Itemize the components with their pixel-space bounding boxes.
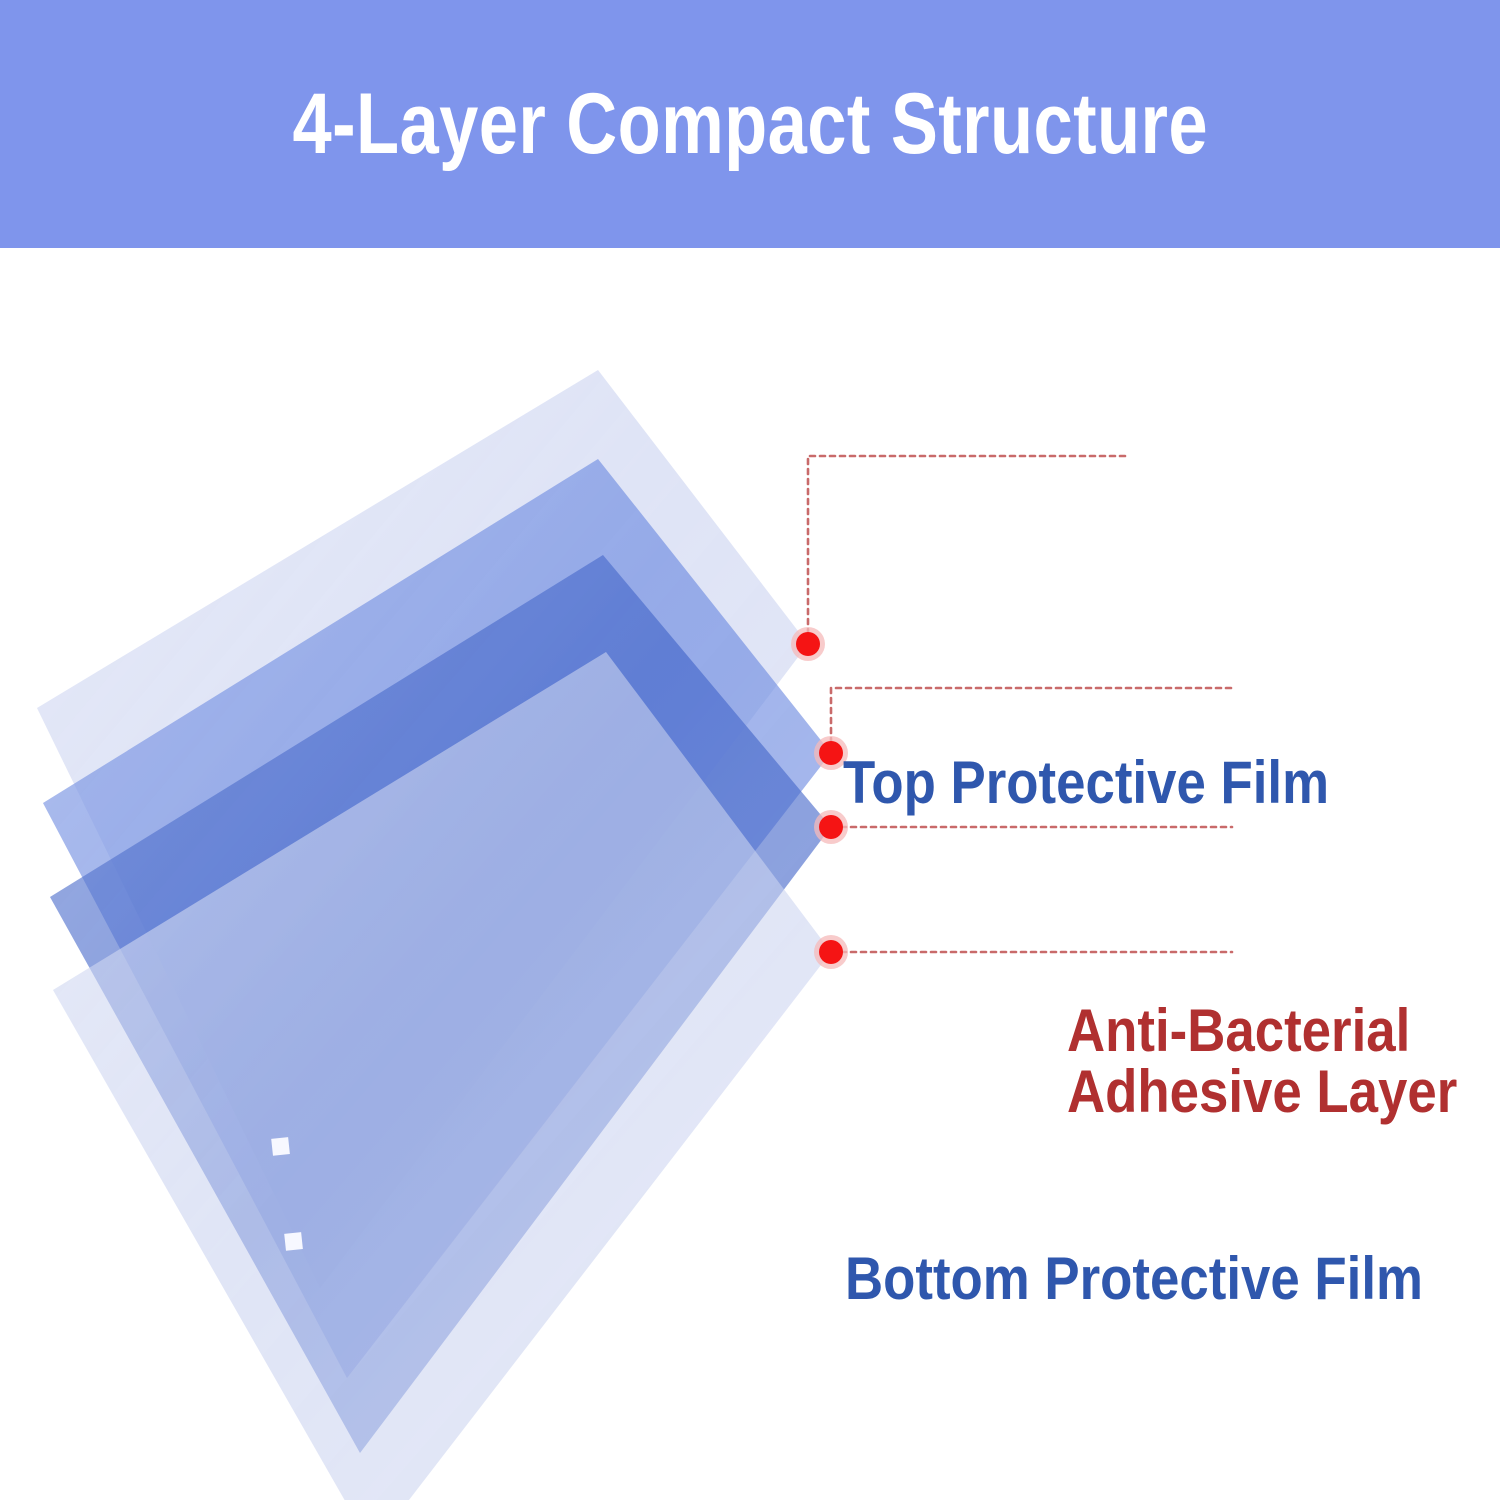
callout-label-top-protective-film: Top Protective Film xyxy=(843,752,1329,813)
infographic-page: 4-Layer Compact Structure xyxy=(0,0,1500,1500)
layer-stack-illustration: Top Protective Film Anti-Bacterial Adhes… xyxy=(0,248,1500,1500)
callout-label-anti-bacterial-adhesive-layer: Anti-Bacterial Adhesive Layer xyxy=(1067,1000,1457,1122)
marker-dot-middle-upper xyxy=(819,741,843,765)
leader-line-middle-upper xyxy=(831,688,1232,753)
marker-dot-bottom xyxy=(819,940,843,964)
marker-dot-middle-lower xyxy=(819,815,843,839)
header-banner: 4-Layer Compact Structure xyxy=(0,0,1500,248)
layer-stack-graphic xyxy=(0,248,1500,1500)
marker-dot-top xyxy=(796,632,820,656)
callout-leaders xyxy=(808,456,1232,952)
callout-label-anti-bacterial-line2: Adhesive Layer xyxy=(1067,1061,1457,1122)
callout-label-anti-bacterial-line1: Anti-Bacterial xyxy=(1067,997,1410,1064)
callout-label-bottom-protective-film: Bottom Protective Film xyxy=(845,1248,1423,1309)
leader-line-top xyxy=(808,456,1128,644)
page-title: 4-Layer Compact Structure xyxy=(292,81,1208,167)
